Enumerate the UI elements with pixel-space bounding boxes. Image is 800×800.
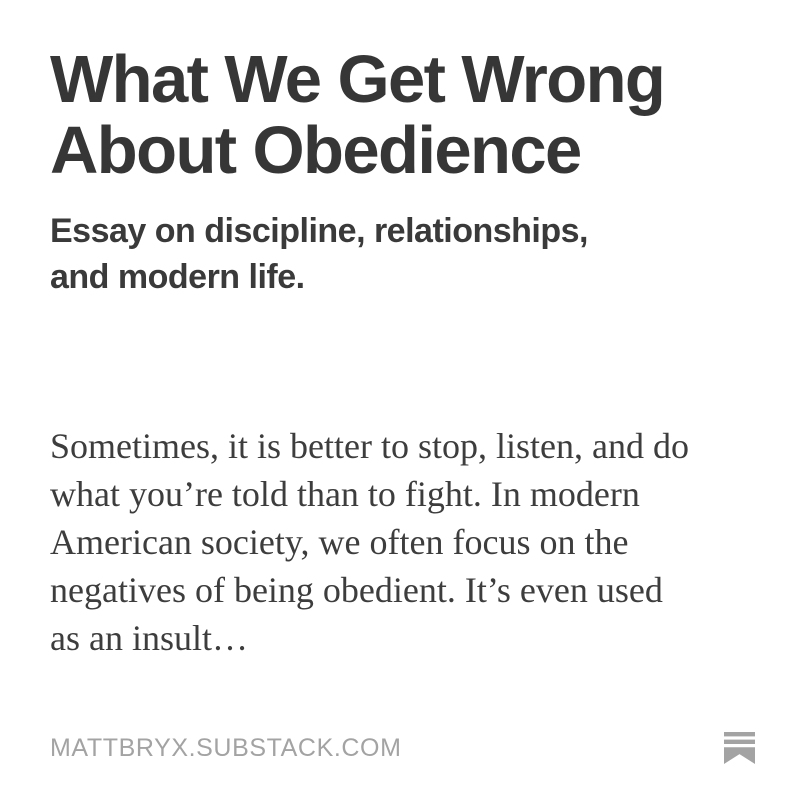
page-subtitle: Essay on discipline, relationships, and … <box>50 208 650 300</box>
card-footer: MATTBRYX.SUBSTACK.COM <box>50 732 755 764</box>
headline-block: What We Get Wrong About Obedience Essay … <box>50 44 690 300</box>
social-share-card: What We Get Wrong About Obedience Essay … <box>0 0 800 800</box>
vertical-spacer <box>50 300 752 422</box>
site-domain-label: MATTBRYX.SUBSTACK.COM <box>50 734 402 762</box>
page-title: What We Get Wrong About Obedience <box>50 44 670 186</box>
substack-bookmark-icon <box>724 732 755 764</box>
post-excerpt: Sometimes, it is better to stop, listen,… <box>50 422 690 662</box>
